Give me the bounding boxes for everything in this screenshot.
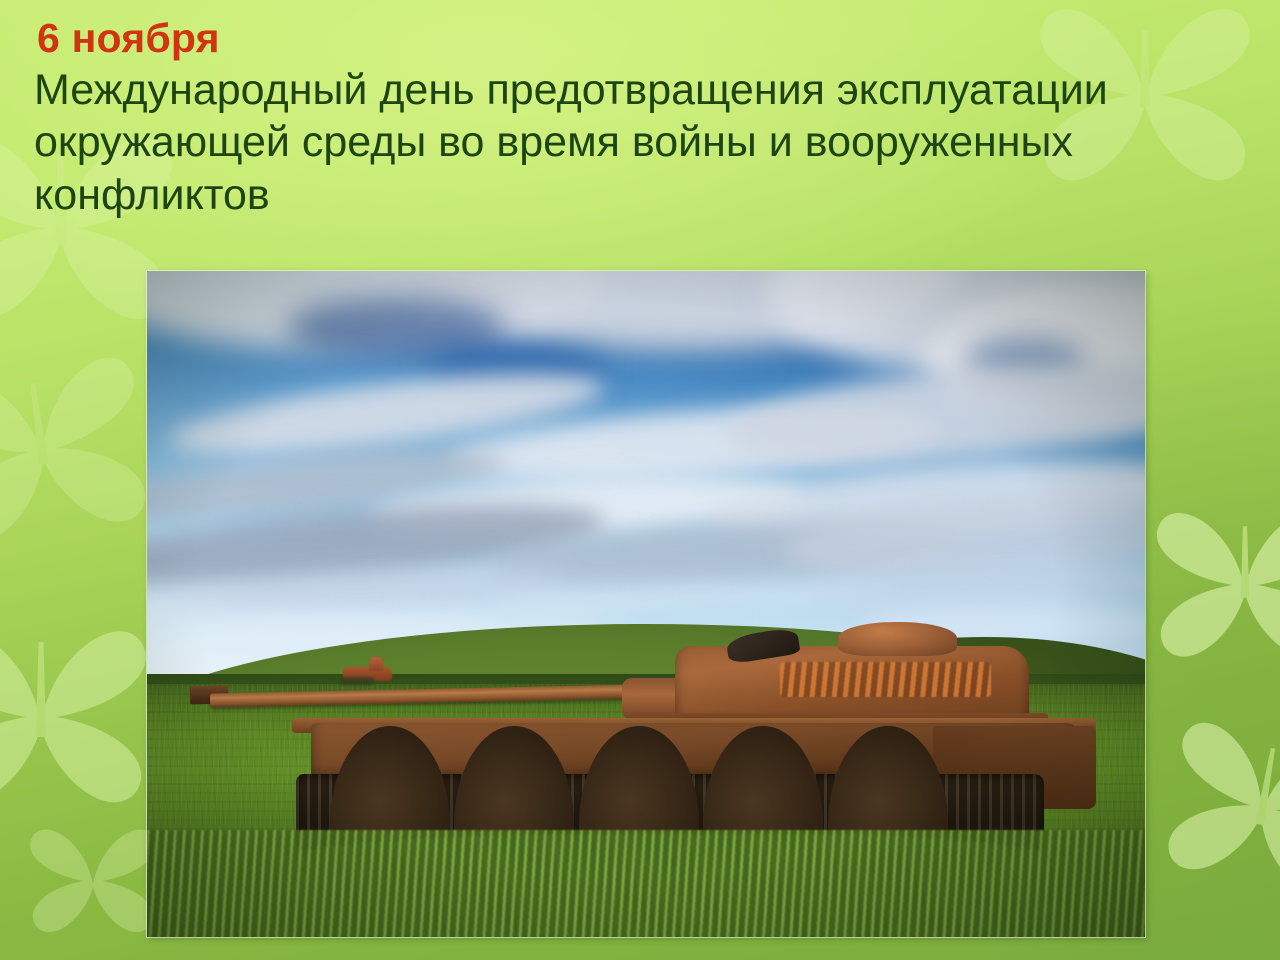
slide-text-block: 6 ноября Международный день предотвращен…: [34, 16, 1224, 221]
bottom-grass-band: [147, 830, 1145, 937]
presentation-slide: 6 ноября Международный день предотвращен…: [0, 0, 1280, 960]
date-heading: 6 ноября: [37, 16, 1224, 62]
butterfly-icon: [0, 592, 166, 842]
tank-in-field-photo: [147, 271, 1145, 937]
butterfly-icon: [1138, 683, 1280, 932]
photo-frame: [147, 271, 1145, 937]
butterfly-icon: [18, 806, 168, 956]
turret-cupola: [838, 622, 958, 656]
gun-barrel: [210, 685, 641, 708]
slide-subtitle: Международный день предотвращения эксплу…: [34, 64, 1189, 221]
turret-rust-patch: [780, 662, 991, 697]
butterfly-icon: [1140, 480, 1280, 690]
